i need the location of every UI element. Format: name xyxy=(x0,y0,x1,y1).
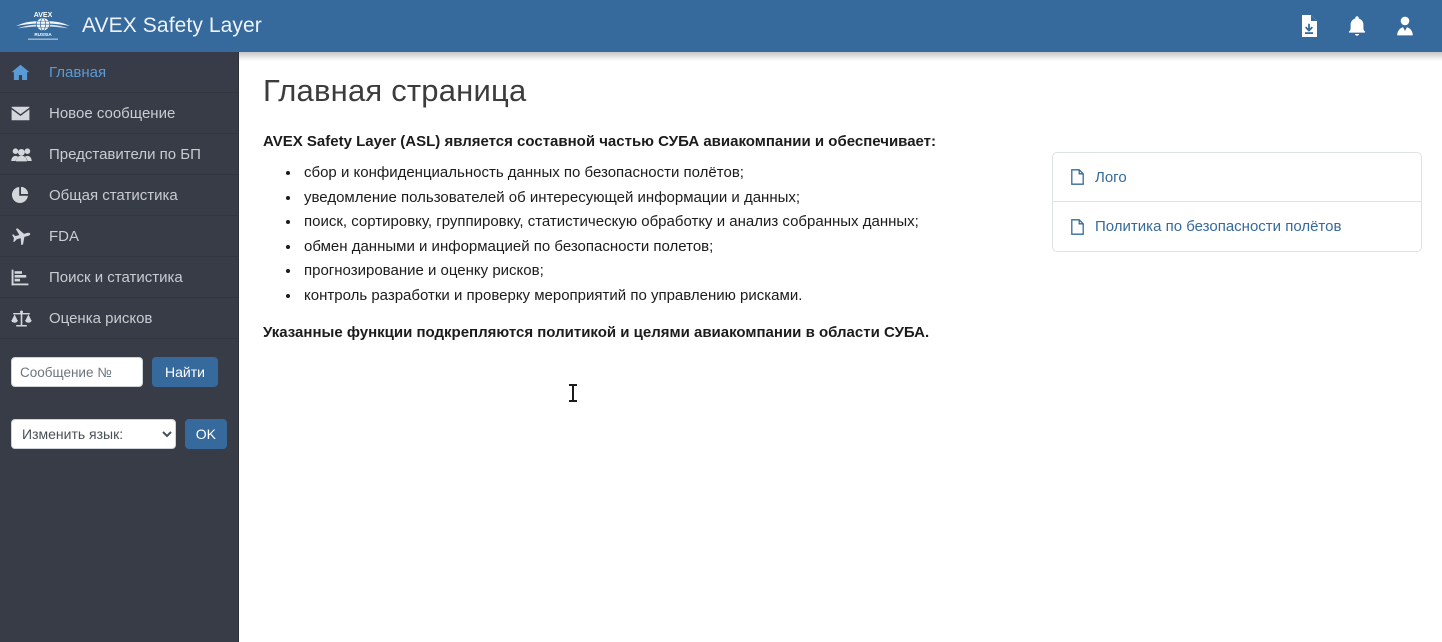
sidebar-item-label: Поиск и статистика xyxy=(41,269,183,286)
page-title: Главная страница xyxy=(239,52,1442,109)
sidebar-nav: Главная Новое сообщение xyxy=(0,52,238,339)
sidebar-item-label: Общая статистика xyxy=(41,187,178,204)
bell-icon[interactable] xyxy=(1344,13,1370,39)
plane-icon xyxy=(11,227,41,245)
file-download-icon[interactable] xyxy=(1296,13,1322,39)
sidebar-item-risk-assessment[interactable]: Оценка рисков xyxy=(0,298,238,339)
home-icon xyxy=(11,64,41,81)
document-link-label: Лого xyxy=(1095,169,1127,186)
language-ok-button[interactable]: OK xyxy=(185,419,227,449)
search-input[interactable] xyxy=(11,357,143,387)
svg-text:RUSSIA: RUSSIA xyxy=(34,32,52,37)
scales-icon xyxy=(11,310,41,327)
sidebar-item-general-statistics[interactable]: Общая статистика xyxy=(0,175,238,216)
document-link-safety-policy[interactable]: Политика по безопасности полётов xyxy=(1053,202,1421,251)
app-root: AVEX RUSSIA AVEX Safety Layer xyxy=(0,0,1442,642)
sidebar-item-label: Новое сообщение xyxy=(41,105,175,122)
user-icon[interactable] xyxy=(1392,13,1418,39)
svg-text:AVEX: AVEX xyxy=(34,12,53,19)
documents-panel: Лого Политика по безопасности полётов xyxy=(1052,152,1422,252)
sidebar-item-new-message[interactable]: Новое сообщение xyxy=(0,93,238,134)
pie-chart-icon xyxy=(11,186,41,204)
list-item: контроль разработки и проверку мероприят… xyxy=(301,284,1442,309)
file-icon xyxy=(1071,169,1089,185)
sidebar-item-search-statistics[interactable]: Поиск и статистика xyxy=(0,257,238,298)
sidebar-item-home[interactable]: Главная xyxy=(0,52,238,93)
envelope-icon xyxy=(11,106,41,121)
sidebar-item-fda[interactable]: FDA xyxy=(0,216,238,257)
language-row: Изменить язык: OK xyxy=(11,419,227,449)
document-link-logo[interactable]: Лого xyxy=(1053,153,1421,202)
sidebar: Главная Новое сообщение xyxy=(0,52,239,642)
intro-paragraph: AVEX Safety Layer (ASL) является составн… xyxy=(239,109,1442,150)
sidebar-item-label: Представители по БП xyxy=(41,146,201,163)
sidebar-item-label: Оценка рисков xyxy=(41,310,152,327)
list-item: прогнозирование и оценку рисков; xyxy=(301,259,1442,284)
brand[interactable]: AVEX RUSSIA AVEX Safety Layer xyxy=(0,0,262,52)
outro-paragraph: Указанные функции подкрепляются политико… xyxy=(239,308,1442,341)
bar-chart-icon xyxy=(11,269,41,286)
document-link-label: Политика по безопасности полётов xyxy=(1095,218,1341,235)
main-content: Главная страница AVEX Safety Layer (ASL)… xyxy=(239,52,1442,642)
search-button[interactable]: Найти xyxy=(152,357,218,387)
top-header-actions xyxy=(1296,0,1442,52)
message-search-row: Найти xyxy=(11,357,227,387)
users-icon xyxy=(11,147,41,162)
brand-title: AVEX Safety Layer xyxy=(82,14,262,38)
text-cursor xyxy=(572,384,574,402)
sidebar-item-representatives[interactable]: Представители по БП xyxy=(0,134,238,175)
sidebar-item-label: FDA xyxy=(41,228,79,245)
file-icon xyxy=(1071,219,1089,235)
sidebar-tools: Найти Изменить язык: OK xyxy=(0,339,238,449)
top-header-bar: AVEX RUSSIA AVEX Safety Layer xyxy=(0,0,1442,52)
language-select[interactable]: Изменить язык: xyxy=(11,419,176,449)
sidebar-item-label: Главная xyxy=(41,64,106,81)
avex-logo-icon: AVEX RUSSIA xyxy=(14,8,72,44)
